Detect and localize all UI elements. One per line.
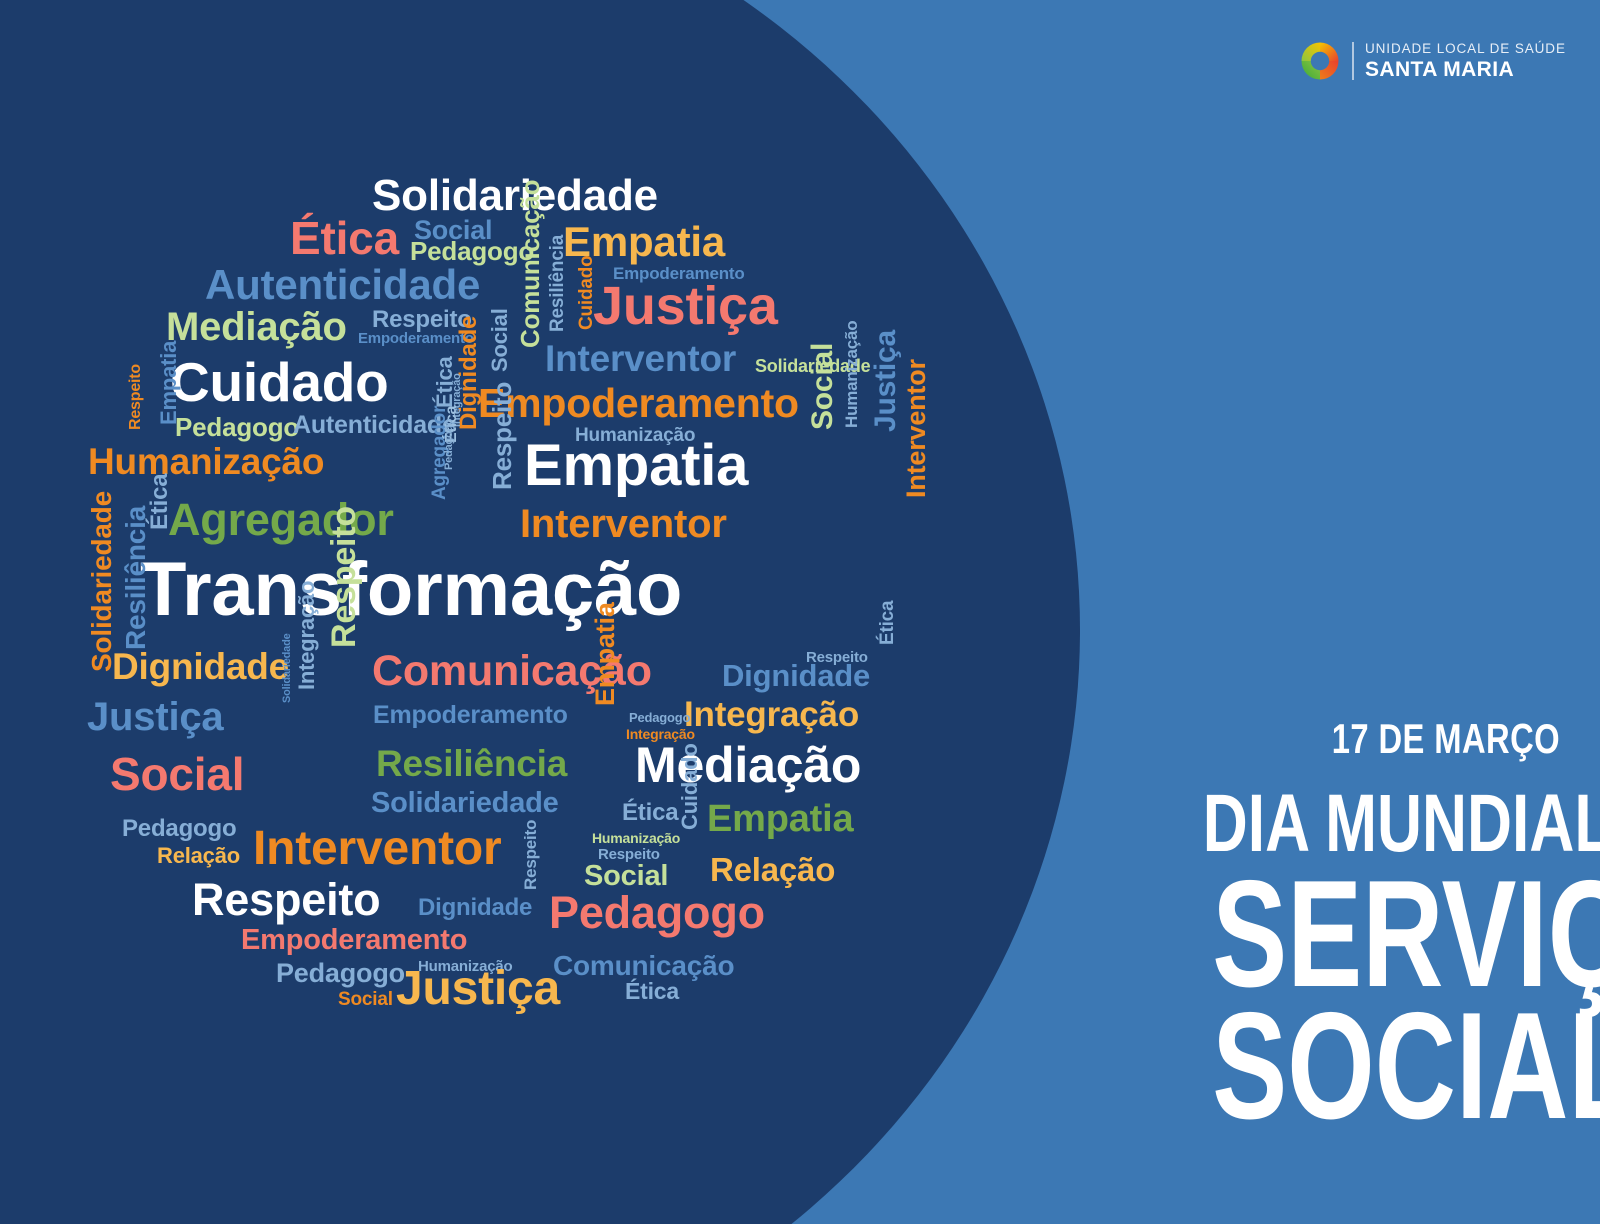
poster-canvas: SolidariedadeÉticaSocialPedagogoEmpatiaA… [0, 0, 1600, 1224]
cloud-word: Ética [290, 215, 399, 261]
cloud-word: Pedagogo [276, 960, 405, 987]
cloud-word: Justiça [593, 279, 778, 333]
cloud-word: Interventor [545, 340, 736, 377]
cloud-word-vertical: Empatia [592, 602, 619, 706]
cloud-word-vertical: Pedagogo [444, 418, 455, 470]
cloud-word-vertical: Solidariedade [88, 491, 116, 672]
cloud-word-vertical: Social [489, 308, 511, 372]
cloud-word: Autenticidade [205, 264, 480, 306]
cloud-word: Cuidado [170, 355, 389, 410]
cloud-word-vertical: Humanização [843, 321, 860, 428]
cloud-word-vertical: Ética [878, 601, 897, 645]
cloud-word: Dignidade [418, 896, 532, 920]
cloud-word: Solidariedade [371, 789, 559, 818]
cloud-word-vertical: Integração [296, 581, 318, 690]
cloud-word: Mediação [166, 307, 347, 347]
cloud-word: Interventor [253, 825, 502, 873]
cloud-word: Ética [625, 980, 679, 1003]
cloud-word-vertical: Interventor [903, 359, 930, 498]
logo-line-1: UNIDADE LOCAL DE SAÚDE [1365, 42, 1566, 56]
cloud-word-vertical: Ética [148, 474, 172, 530]
cloud-word: Empatia [707, 800, 853, 838]
logo-divider [1352, 42, 1354, 80]
brand-logo[interactable]: UNIDADE LOCAL DE SAÚDE SANTA MARIA [1299, 40, 1566, 82]
headline-line-3: SOCIAL [1212, 997, 1560, 1137]
cloud-word-vertical: Comunicação [517, 180, 543, 348]
cloud-word: Humanização [88, 443, 324, 480]
word-cloud: SolidariedadeÉticaSocialPedagogoEmpatiaA… [0, 0, 1080, 1224]
cloud-word-vertical: Respeito [489, 382, 515, 490]
cloud-word-vertical: Respeito [327, 506, 361, 648]
cloud-word-vertical: Cuidado [679, 743, 701, 830]
uls-logo-mark-icon [1299, 40, 1341, 82]
cloud-word: Mediação [635, 740, 861, 790]
cloud-word-vertical: Respeito [522, 820, 539, 890]
cloud-word-vertical: Empatia [158, 341, 180, 425]
logo-line-2: SANTA MARIA [1365, 59, 1566, 80]
cloud-word: Pedagogo [122, 817, 236, 841]
cloud-word: Social [338, 990, 393, 1009]
cloud-word-vertical: Social [808, 343, 838, 430]
cloud-word: Justiça [87, 697, 223, 737]
cloud-word: Integração [684, 697, 859, 732]
cloud-word-vertical: Justiça [871, 330, 901, 432]
cloud-word: Resiliência [376, 745, 567, 782]
cloud-word: Humanização [592, 831, 680, 845]
cloud-word: Empatia [524, 437, 748, 495]
cloud-word-vertical: Solidariedade [282, 633, 293, 703]
cloud-word: Comunicação [553, 952, 734, 980]
cloud-word: Respeito [192, 877, 380, 922]
cloud-word: Empoderamento [241, 926, 467, 955]
cloud-word: Ética [622, 801, 678, 825]
cloud-word: Relação [710, 853, 835, 886]
cloud-word: Empoderamento [373, 703, 568, 728]
cloud-word: Justiça [396, 965, 560, 1013]
cloud-word-vertical: Resiliência [548, 235, 567, 332]
cloud-word: Respeito [806, 650, 868, 665]
cloud-word: Pedagogo [175, 414, 299, 440]
cloud-word: Social [110, 751, 244, 797]
cloud-word: Empoderamento [478, 383, 799, 424]
cloud-word: Pedagogo [549, 890, 765, 935]
cloud-word: Relação [157, 845, 240, 867]
cloud-word: Interventor [520, 504, 727, 544]
headline-block: 17 DE MARÇO DIA MUNDIAL DO SERVIÇO SOCIA… [1090, 718, 1560, 1137]
cloud-word: Dignidade [112, 648, 289, 685]
logo-wordmark: UNIDADE LOCAL DE SAÚDE SANTA MARIA [1365, 42, 1566, 80]
headline-date: 17 DE MARÇO [1193, 718, 1560, 760]
cloud-word: Pedagogo [629, 711, 690, 724]
cloud-word-vertical: Respeito [128, 364, 144, 430]
cloud-word-vertical: Cuidado [577, 255, 596, 330]
